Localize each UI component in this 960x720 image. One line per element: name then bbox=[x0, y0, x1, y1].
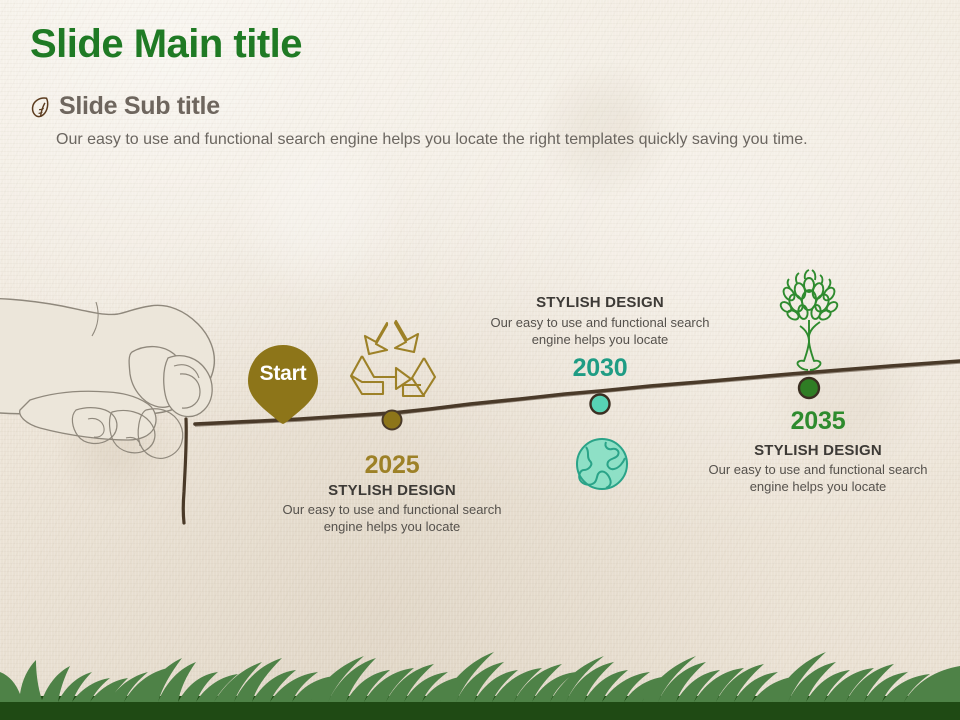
globe-icon bbox=[577, 439, 627, 489]
timeline-dot-2030[interactable] bbox=[591, 395, 610, 414]
milestone-year-2025: 2025 bbox=[268, 452, 516, 480]
grass-footer bbox=[0, 610, 960, 720]
hand-holding-string-illustration bbox=[0, 298, 214, 458]
milestone-heading-2035: STYLISH DESIGN bbox=[700, 442, 936, 461]
milestone-description-2025: Our easy to use and functional search en… bbox=[268, 502, 516, 536]
grass-silhouette bbox=[0, 652, 960, 702]
milestone-block-2035[interactable]: 2035 STYLISH DESIGN Our easy to use and … bbox=[700, 408, 936, 496]
milestone-year-2035: 2035 bbox=[700, 408, 936, 436]
timeline-start-marker[interactable] bbox=[248, 345, 318, 424]
recycle-icon bbox=[351, 321, 435, 396]
milestone-heading-2025: STYLISH DESIGN bbox=[268, 482, 516, 501]
slide-canvas: Slide Main title Slide Sub title Our eas… bbox=[0, 0, 960, 720]
milestone-block-2025[interactable]: 2025 STYLISH DESIGN Our easy to use and … bbox=[268, 452, 516, 536]
timeline-dot-2035[interactable] bbox=[799, 378, 819, 398]
milestone-description-2035: Our easy to use and functional search en… bbox=[700, 462, 936, 496]
milestone-year-2030: 2030 bbox=[478, 355, 722, 383]
tree-icon bbox=[779, 270, 839, 370]
milestone-block-2030[interactable]: STYLISH DESIGN Our easy to use and funct… bbox=[478, 292, 722, 382]
timeline-dot-2025[interactable] bbox=[383, 411, 402, 430]
milestone-description-2030: Our easy to use and functional search en… bbox=[478, 315, 722, 349]
hanging-string bbox=[183, 419, 186, 523]
milestone-heading-2030: STYLISH DESIGN bbox=[478, 294, 722, 313]
